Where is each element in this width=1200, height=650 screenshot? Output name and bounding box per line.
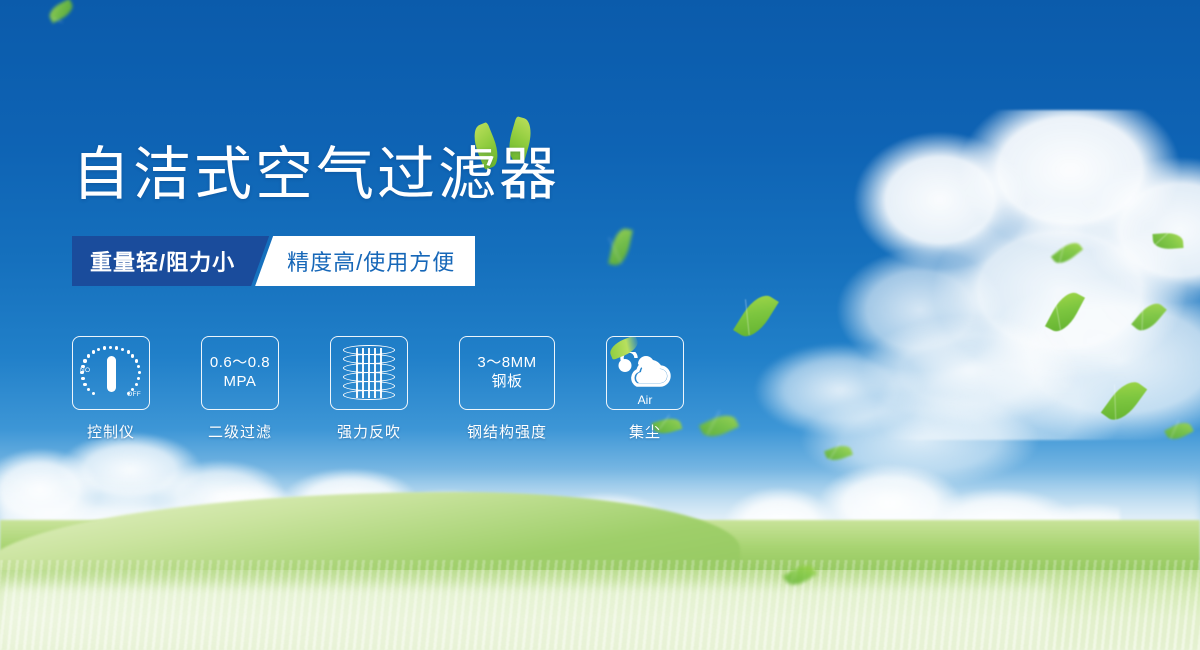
feature-label: 钢结构强度 [467,421,547,442]
badge-left: 重量轻/阻力小 [72,236,269,286]
steel-value-line1: 3～8MM [477,354,536,373]
steel-value-line2: 钢板 [491,373,522,392]
feature-list: NO OFF 控制仪 0.6～0.8 MPA 二级过滤 [72,336,684,442]
gauge-needle [107,356,116,392]
product-hero-banner: 自洁式空气过滤器 重量轻/阻力小 精度高/使用方便 [0,0,1200,650]
banner-content: 自洁式空气过滤器 重量轻/阻力小 精度高/使用方便 [0,0,1200,650]
feature-item-backblow[interactable]: 强力反吹 [330,336,408,442]
pressure-value-line1: 0.6～0.8 [210,354,270,373]
pressure-value-line2: MPA [224,373,257,392]
feature-icon-box: 0.6～0.8 MPA [201,336,279,410]
gauge-label-no: NO [80,367,90,374]
feature-label: 集尘 [629,421,661,442]
tagline-badge-bar: 重量轻/阻力小 精度高/使用方便 [72,236,475,286]
feature-label: 控制仪 [87,421,135,442]
gauge-label-off: OFF [127,391,141,398]
feature-label: 强力反吹 [337,421,401,442]
feature-icon-box: 3～8MM 钢板 [459,336,555,410]
filter-stack-icon [343,345,395,401]
gauge-dial-icon: NO OFF [80,345,142,401]
feature-icon-box: Air [606,336,684,410]
cloud-air-label: Air [615,393,675,407]
air-cloud-icon: Air [615,352,675,392]
feature-item-filtration[interactable]: 0.6～0.8 MPA 二级过滤 [201,336,279,442]
cloud-glyph [615,352,675,390]
feature-icon-box [330,336,408,410]
feature-item-control[interactable]: NO OFF 控制仪 [72,336,150,442]
feature-label: 二级过滤 [208,421,272,442]
feature-item-dust[interactable]: Air 集尘 [606,336,684,442]
feature-icon-box: NO OFF [72,336,150,410]
feature-item-steel[interactable]: 3～8MM 钢板 钢结构强度 [459,336,555,442]
badge-right: 精度高/使用方便 [255,236,475,286]
page-title: 自洁式空气过滤器 [72,145,560,203]
